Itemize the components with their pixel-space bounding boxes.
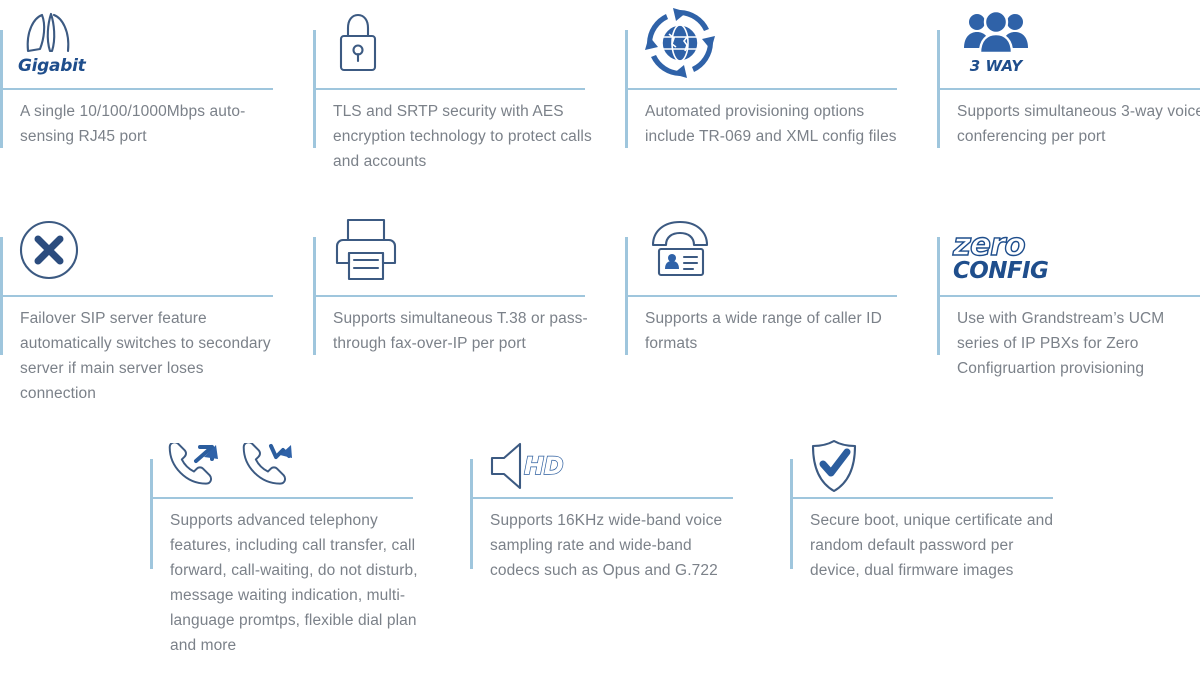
feature-grid: Gigabit A single 10/100/1000Mbps auto-se… xyxy=(0,0,1200,687)
icon-slot xyxy=(168,437,294,495)
phone-caller-id-icon xyxy=(647,219,713,281)
hd-speaker-icon: HD xyxy=(488,441,566,491)
icon-slot xyxy=(331,0,385,86)
globe-refresh-icon xyxy=(643,6,717,80)
fax-machine-icon xyxy=(331,217,401,283)
padlock-icon xyxy=(331,10,385,76)
feature-description: Secure boot, unique certificate and rand… xyxy=(810,508,1064,583)
three-way-wordmark: 3 WAY xyxy=(970,57,1022,75)
feature-description: TLS and SRTP security with AES encryptio… xyxy=(333,99,593,174)
card-vertical-rule xyxy=(790,459,793,569)
card-horizontal-rule xyxy=(937,295,1200,297)
card-horizontal-rule xyxy=(313,295,585,297)
zero-wordmark-bottom: CONFIG xyxy=(953,261,1048,283)
icon-slot: 3 WAY xyxy=(963,0,1029,86)
card-horizontal-rule xyxy=(0,295,273,297)
feature-description: Failover SIP server feature automaticall… xyxy=(20,306,275,406)
icon-slot xyxy=(331,207,401,293)
feature-description: Use with Grandstream’s UCM series of IP … xyxy=(957,306,1200,381)
feature-description: Supports a wide range of caller ID forma… xyxy=(645,306,903,356)
three-users-icon xyxy=(963,11,1029,57)
icon-slot xyxy=(647,207,713,293)
shield-check-icon xyxy=(808,438,860,494)
card-horizontal-rule xyxy=(150,497,413,499)
call-transfer-icon xyxy=(168,443,220,489)
feature-description: Automated provisioning options include T… xyxy=(645,99,907,149)
call-forward-icon xyxy=(242,443,294,489)
gigabit-icon xyxy=(20,11,84,55)
card-horizontal-rule xyxy=(625,295,897,297)
x-circle-icon xyxy=(18,219,80,281)
feature-description: Supports advanced telephony features, in… xyxy=(170,508,420,658)
zero-wordmark-top: zero xyxy=(953,231,1025,260)
card-horizontal-rule xyxy=(470,497,733,499)
card-horizontal-rule xyxy=(0,88,273,90)
card-vertical-rule xyxy=(470,459,473,569)
card-vertical-rule xyxy=(150,459,153,569)
card-horizontal-rule xyxy=(625,88,897,90)
feature-description: Supports simultaneous 3-way voice confer… xyxy=(957,99,1200,149)
icon-slot: Gigabit xyxy=(18,0,85,86)
hd-wordmark: HD xyxy=(524,452,563,480)
feature-description: A single 10/100/1000Mbps auto-sensing RJ… xyxy=(20,99,270,149)
feature-description: Supports simultaneous T.38 or pass-throu… xyxy=(333,306,591,356)
icon-slot xyxy=(643,0,717,86)
zero-config-icon: zero CONFIG xyxy=(953,217,1048,282)
icon-slot: HD xyxy=(488,437,566,495)
feature-description: Supports 16KHz wide-band voice sampling … xyxy=(490,508,742,583)
card-horizontal-rule xyxy=(937,88,1200,90)
icon-slot: zero CONFIG xyxy=(953,207,1048,293)
gigabit-wordmark: Gigabit xyxy=(18,56,85,76)
icon-slot xyxy=(18,207,80,293)
card-horizontal-rule xyxy=(313,88,585,90)
card-horizontal-rule xyxy=(790,497,1053,499)
icon-slot xyxy=(808,437,860,495)
